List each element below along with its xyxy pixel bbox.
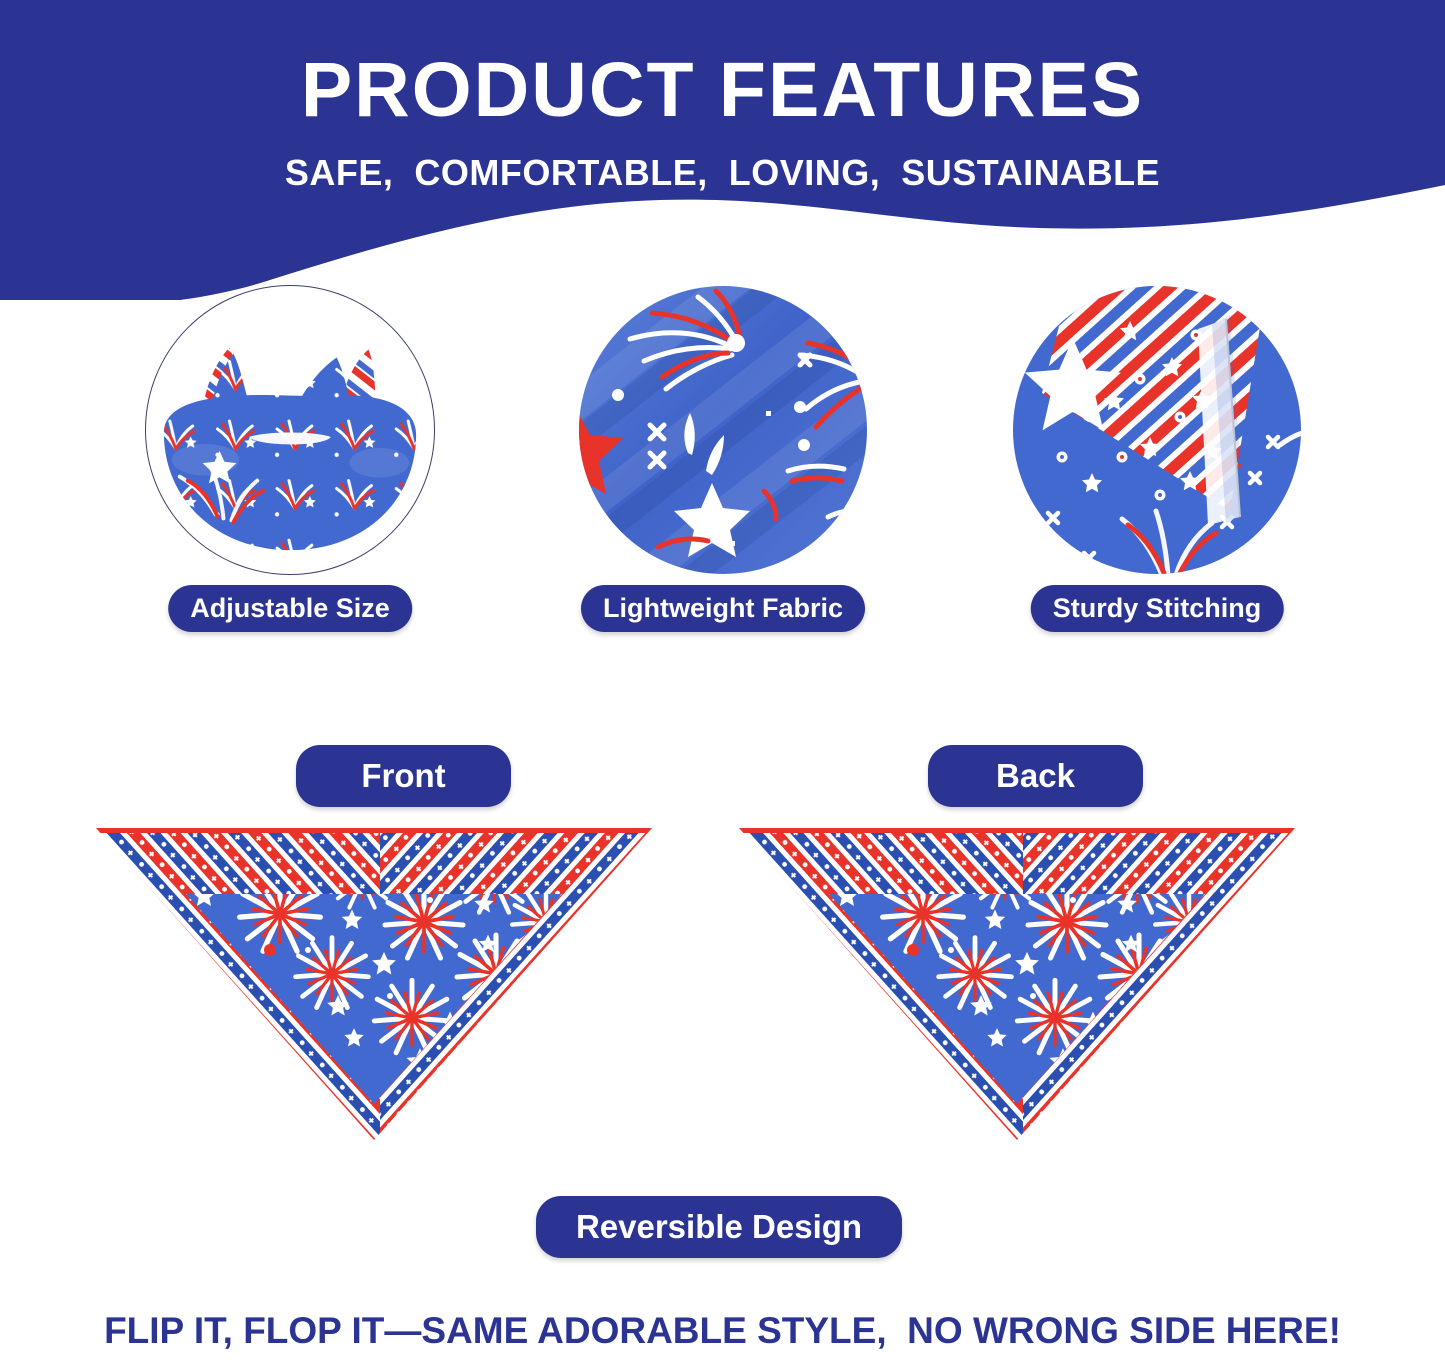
bandana-triangle-front-illustration: [90, 822, 658, 1152]
header-band: [0, 0, 1445, 300]
bandana-triangle-back-photo: [733, 822, 1301, 1152]
back-label-badge: Back: [928, 745, 1143, 807]
bandana-triangle-front-photo: [90, 822, 658, 1152]
reversible-design-badge: Reversible Design: [536, 1196, 902, 1258]
feature-badge-adjustable-size: Adjustable Size: [168, 585, 412, 632]
bandana-tied-knot-photo: [145, 285, 435, 575]
page-subtitle: SAFE, COMFORTABLE, LOVING, SUSTAINABLE: [0, 155, 1445, 191]
feature-item-adjustable-size: Adjustable Size: [145, 285, 435, 575]
front-label-badge: Front: [296, 745, 511, 807]
feature-item-lightweight-fabric: Lightweight Fabric: [578, 285, 868, 575]
feature-item-sturdy-stitching: Sturdy Stitching: [1012, 285, 1302, 575]
page-title: PRODUCT FEATURES: [0, 52, 1445, 129]
bandana-tied-knot-illustration: [146, 286, 434, 574]
stitched-edge-illustration: [1012, 285, 1302, 575]
feature-badge-lightweight-fabric: Lightweight Fabric: [581, 585, 865, 632]
feature-circles-row: Adjustable Size: [0, 285, 1445, 635]
fabric-closeup-folds-photo: [578, 285, 868, 575]
bandana-triangle-back-illustration: [733, 822, 1301, 1152]
footer-tagline: FLIP IT, FLOP IT—SAME ADORABLE STYLE, NO…: [0, 1310, 1445, 1352]
feature-badge-sturdy-stitching: Sturdy Stitching: [1031, 585, 1284, 632]
fabric-closeup-illustration: [578, 285, 868, 575]
header-wave-shape: [0, 0, 1445, 300]
stitched-edge-stripes-photo: [1012, 285, 1302, 575]
